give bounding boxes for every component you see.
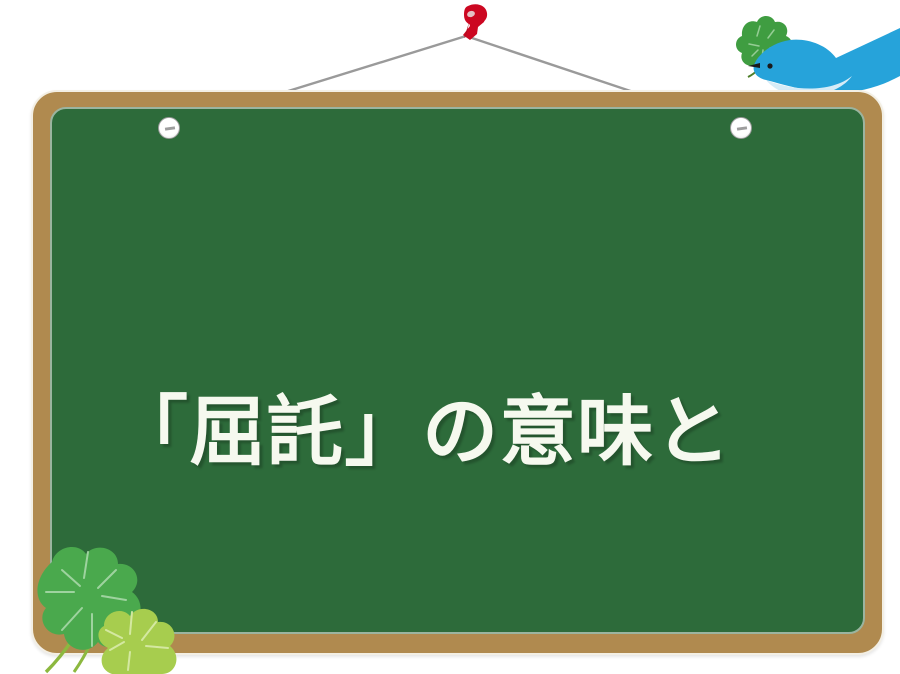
clover-cluster-bottom-left <box>0 0 900 674</box>
poster-canvas: 「屈託」の意味と は？使い方や例文・ 類語！ <box>0 0 900 674</box>
clover-small-icon <box>98 609 176 674</box>
